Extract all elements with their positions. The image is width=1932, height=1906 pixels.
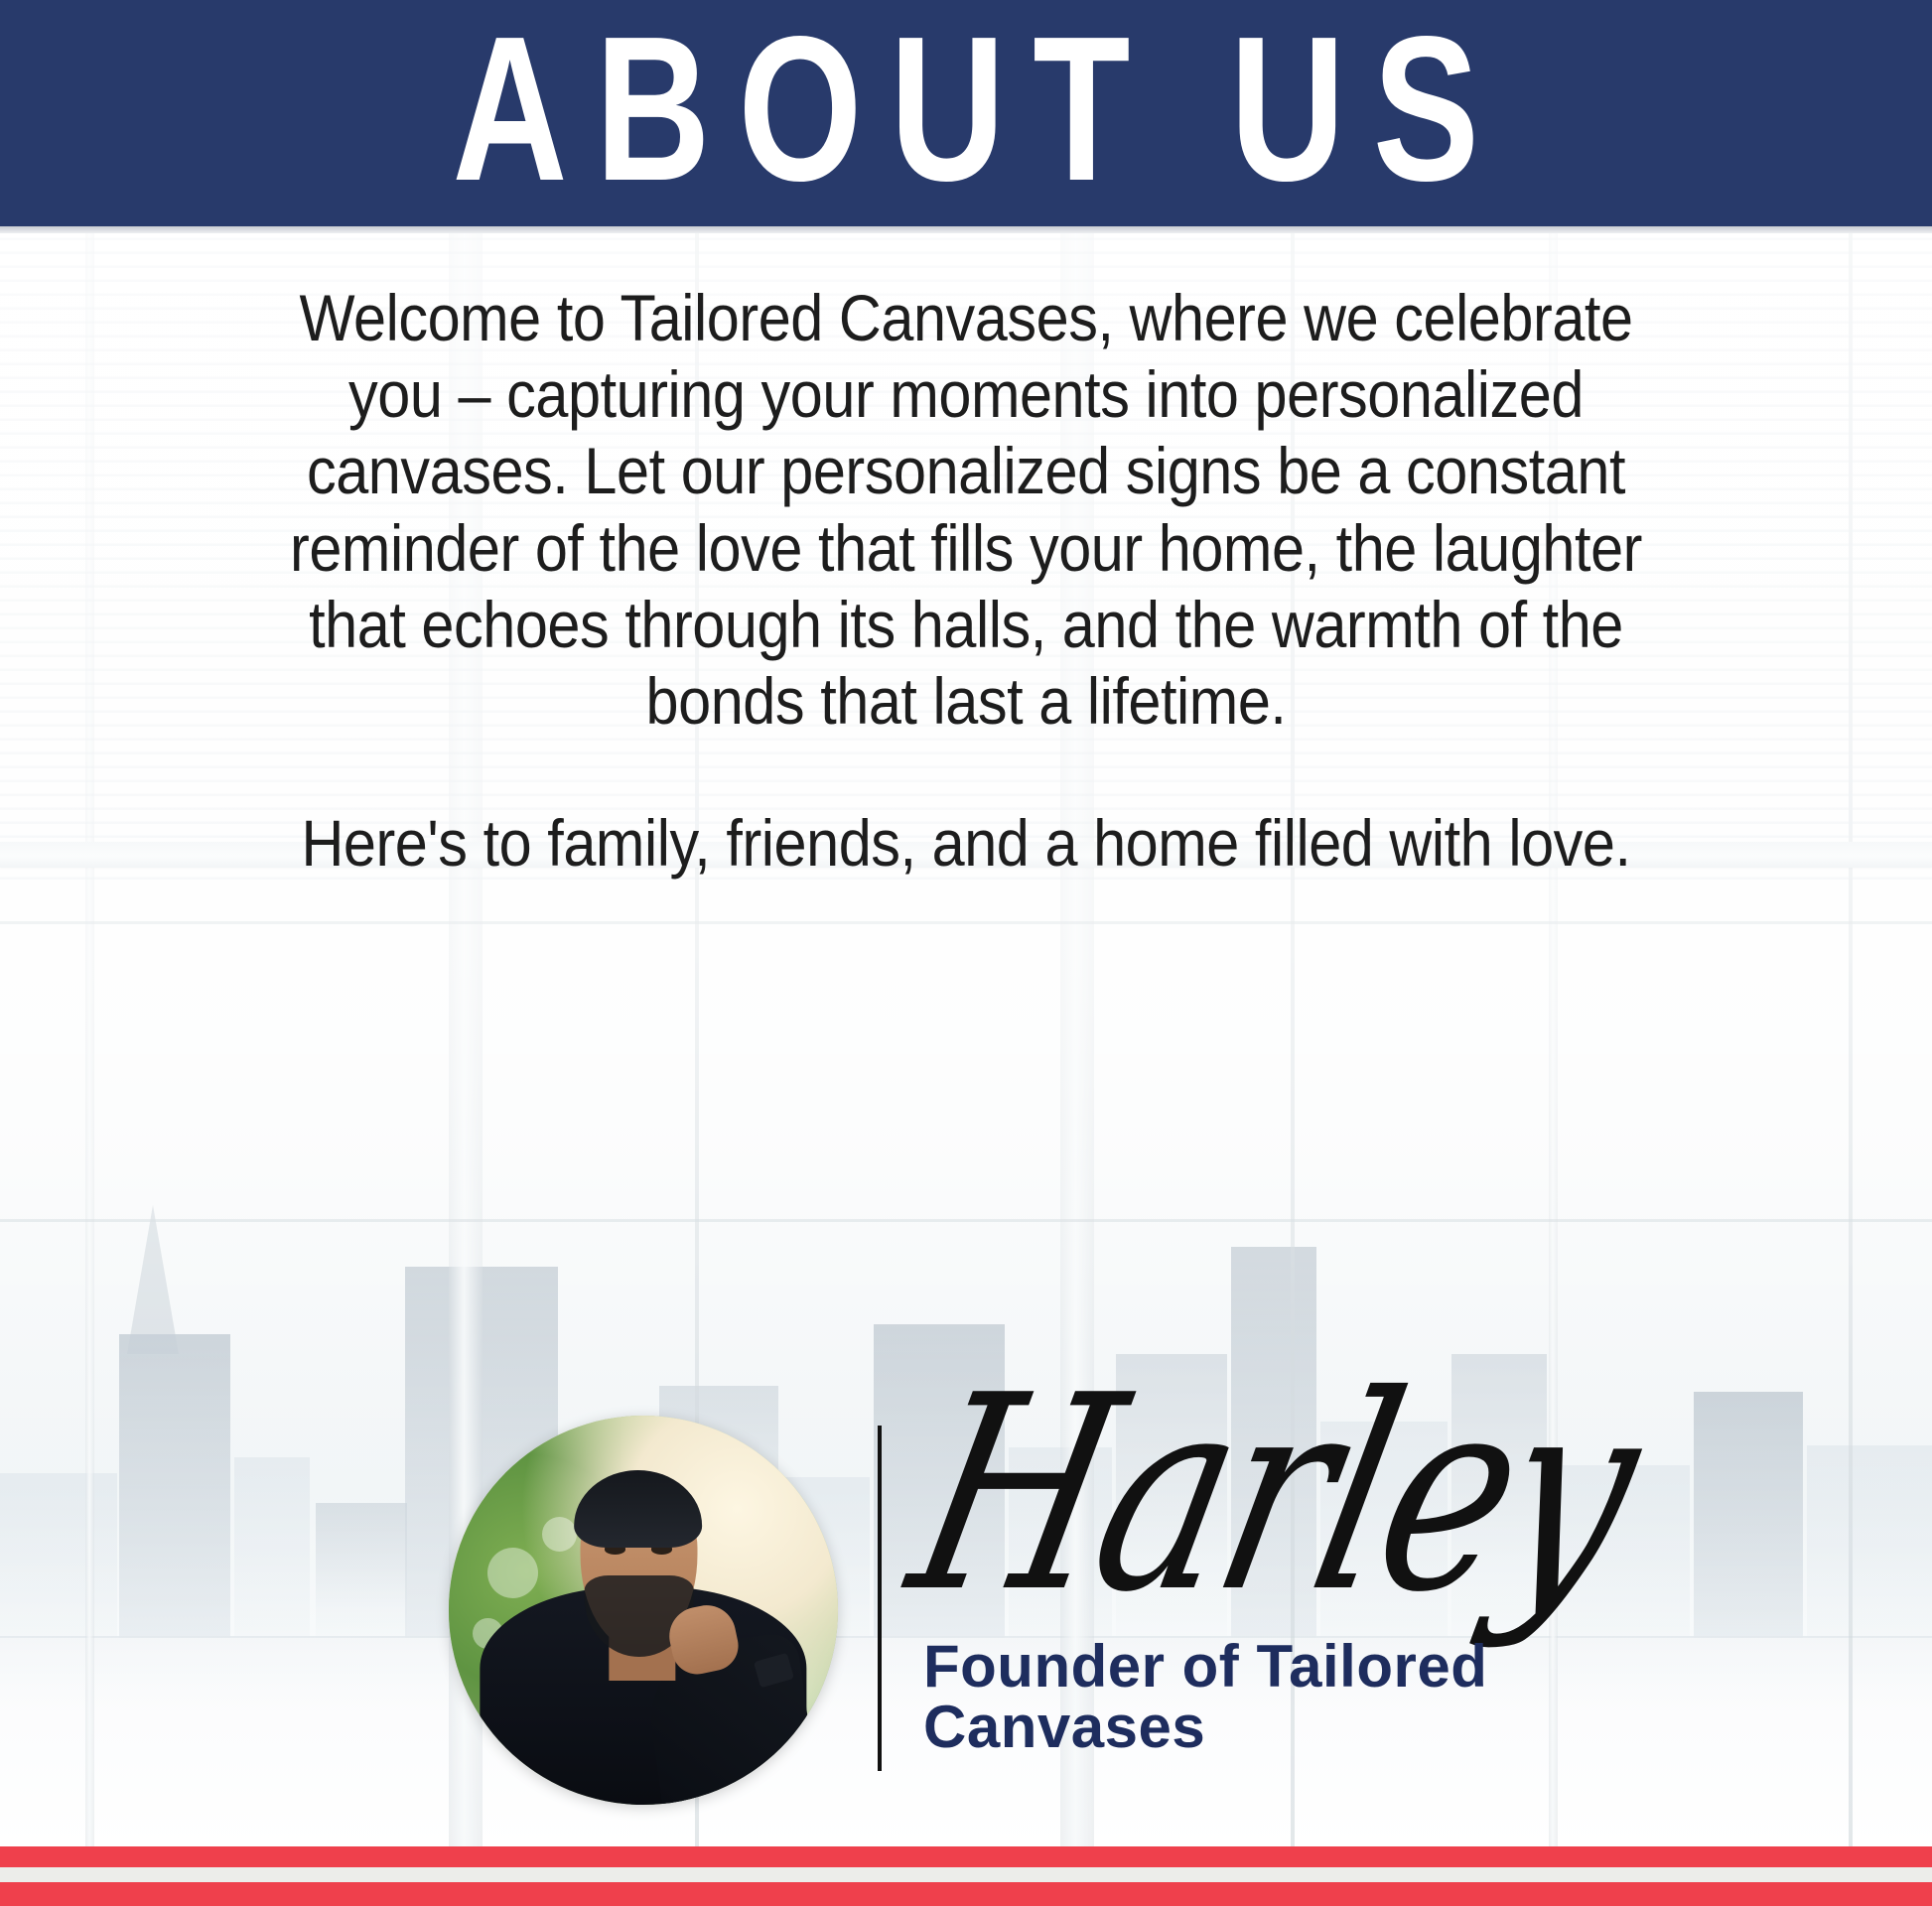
about-paragraph-1: Welcome to Tailored Canvases, where we c… — [287, 280, 1645, 740]
paragraph-spacer — [287, 740, 1645, 805]
header-underline — [0, 226, 1932, 233]
footer-stripes — [0, 1846, 1932, 1906]
bokeh-dot — [487, 1548, 538, 1598]
footer-stripe-bottom — [0, 1882, 1932, 1906]
founder-title-line-1: Founder of Tailored — [923, 1636, 1579, 1697]
founder-signature: Harley — [895, 1361, 1549, 1630]
about-us-copy: Welcome to Tailored Canvases, where we c… — [287, 280, 1645, 883]
footer-stripe-top — [0, 1846, 1932, 1867]
founder-title-line-2: Canvases — [923, 1697, 1579, 1757]
footer-stripe-gap — [0, 1867, 1932, 1882]
about-paragraph-2: Here's to family, friends, and a home fi… — [287, 805, 1645, 882]
page-title: ABOUT US — [425, 6, 1507, 212]
about-us-page: ABOUT US Welcome to Tailored Canvases, w… — [0, 0, 1932, 1906]
signature-block: Harley Founder of Tailored Canvases — [0, 1390, 1932, 1827]
signature-divider — [878, 1426, 882, 1771]
founder-avatar — [449, 1416, 838, 1805]
founder-title: Founder of Tailored Canvases — [923, 1636, 1579, 1757]
header-banner: ABOUT US — [0, 0, 1932, 226]
